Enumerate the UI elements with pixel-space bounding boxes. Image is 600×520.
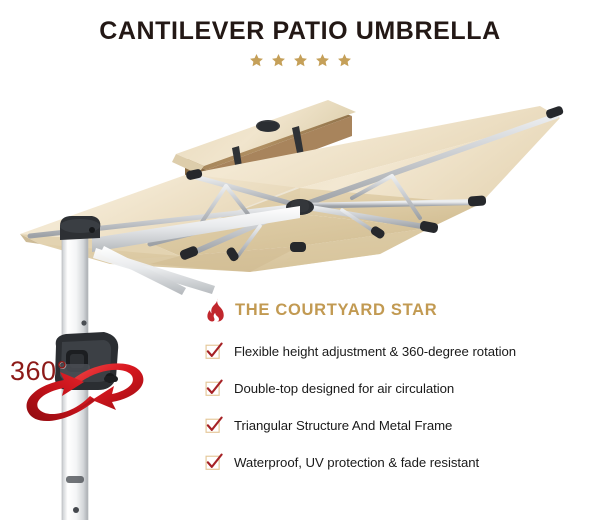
star-rating bbox=[0, 53, 600, 68]
list-item: Double-top designed for air circulation bbox=[205, 378, 600, 398]
check-icon bbox=[205, 379, 223, 397]
list-item: Triangular Structure And Metal Frame bbox=[205, 415, 600, 435]
feature-heading-text: THE COURTYARD STAR bbox=[235, 301, 437, 320]
list-item-label: Waterproof, UV protection & fade resista… bbox=[234, 455, 479, 470]
product-marketing-image: CANTILEVER PATIO UMBRELLA bbox=[0, 0, 600, 520]
list-item: Waterproof, UV protection & fade resista… bbox=[205, 452, 600, 472]
page-title: CANTILEVER PATIO UMBRELLA bbox=[0, 18, 600, 46]
list-item-label: Triangular Structure And Metal Frame bbox=[234, 418, 452, 433]
feature-list: Flexible height adjustment & 360-degree … bbox=[205, 341, 600, 472]
feature-panel: THE COURTYARD STAR Flexible height adjus… bbox=[205, 295, 600, 472]
header: CANTILEVER PATIO UMBRELLA bbox=[0, 18, 600, 68]
list-item-label: Flexible height adjustment & 360-degree … bbox=[234, 344, 516, 359]
star-icon bbox=[315, 53, 330, 68]
check-icon bbox=[205, 416, 223, 434]
list-item: Flexible height adjustment & 360-degree … bbox=[205, 341, 600, 361]
flame-icon bbox=[207, 298, 226, 322]
star-icon bbox=[271, 53, 286, 68]
star-icon bbox=[249, 53, 264, 68]
star-icon bbox=[293, 53, 308, 68]
feature-heading: THE COURTYARD STAR bbox=[207, 295, 600, 325]
list-item-label: Double-top designed for air circulation bbox=[234, 381, 454, 396]
check-icon bbox=[205, 342, 223, 360]
check-icon bbox=[205, 453, 223, 471]
star-icon bbox=[337, 53, 352, 68]
